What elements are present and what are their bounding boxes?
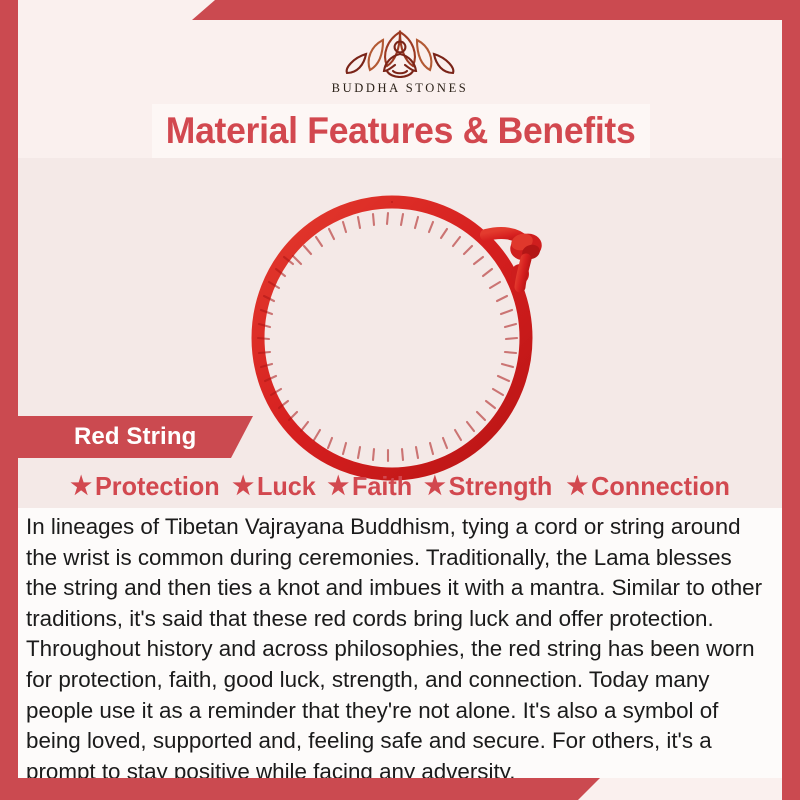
brand-logo: BUDDHA STONES (0, 16, 800, 96)
description-text: In lineages of Tibetan Vajrayana Buddhis… (26, 512, 767, 787)
frame-right-border (782, 0, 800, 800)
feature-item-faith: ★ Faith (327, 471, 412, 502)
feature-label: Luck (257, 471, 316, 502)
feature-item-strength: ★ Strength (424, 471, 552, 502)
material-name-label: Red String (18, 423, 196, 451)
lotus-meditation-figure-icon (325, 16, 475, 78)
red-braided-string-bracelet-icon (240, 173, 560, 493)
feature-list: ★ Protection ★ Luck ★ Faith ★ Strength ★… (18, 464, 782, 508)
feature-label: Strength (449, 471, 553, 502)
star-icon: ★ (70, 474, 92, 499)
star-icon: ★ (327, 474, 349, 499)
brand-name: BUDDHA STONES (332, 81, 469, 96)
feature-label: Connection (591, 471, 730, 502)
feature-label: Faith (352, 471, 412, 502)
page-title: Material Features & Benefits (152, 104, 650, 158)
star-icon: ★ (232, 474, 254, 499)
star-icon: ★ (566, 474, 588, 499)
star-icon: ★ (424, 474, 446, 499)
feature-item-luck: ★ Luck (232, 471, 316, 502)
feature-label: Protection (95, 471, 220, 502)
feature-item-connection: ★ Connection (566, 471, 729, 502)
frame-left-border (0, 0, 18, 800)
poster-root: BUDDHA STONES Material Features & Benefi… (0, 0, 800, 800)
material-name-ribbon: Red String (18, 416, 253, 458)
page-title-text: Material Features & Benefits (166, 110, 636, 152)
feature-item-protection: ★ Protection (70, 471, 219, 502)
